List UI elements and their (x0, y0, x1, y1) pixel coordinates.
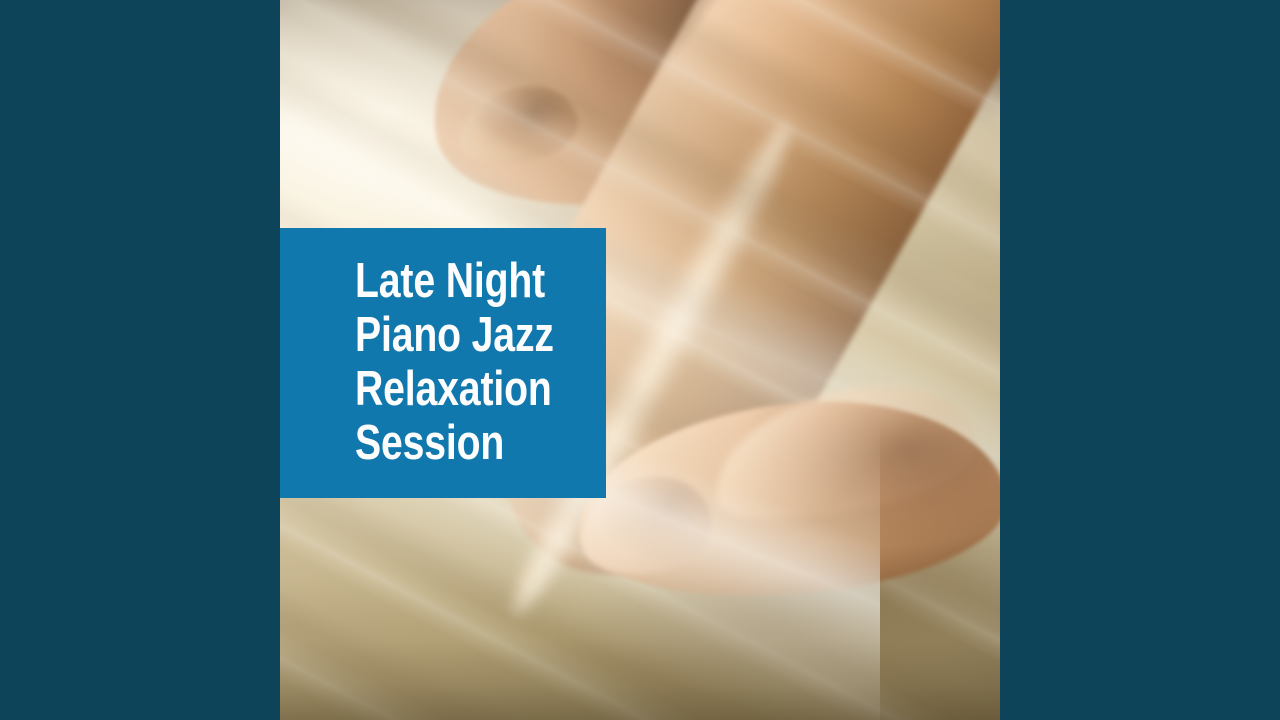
album-title-line-1: Late Night (355, 254, 553, 308)
letterbox-right-panel (1000, 0, 1280, 720)
album-title-block: Late Night Piano Jazz Relaxation Session (280, 228, 606, 498)
album-title-line-3: Relaxation (355, 362, 553, 416)
album-title: Late Night Piano Jazz Relaxation Session (355, 254, 603, 470)
album-artwork-image[interactable]: Late Night Piano Jazz Relaxation Session (280, 0, 1000, 720)
album-title-line-2: Piano Jazz (355, 308, 553, 362)
letterbox-left-panel (0, 0, 280, 720)
album-title-line-4: Session (355, 416, 553, 470)
media-viewer-frame: Late Night Piano Jazz Relaxation Session (0, 0, 1280, 720)
